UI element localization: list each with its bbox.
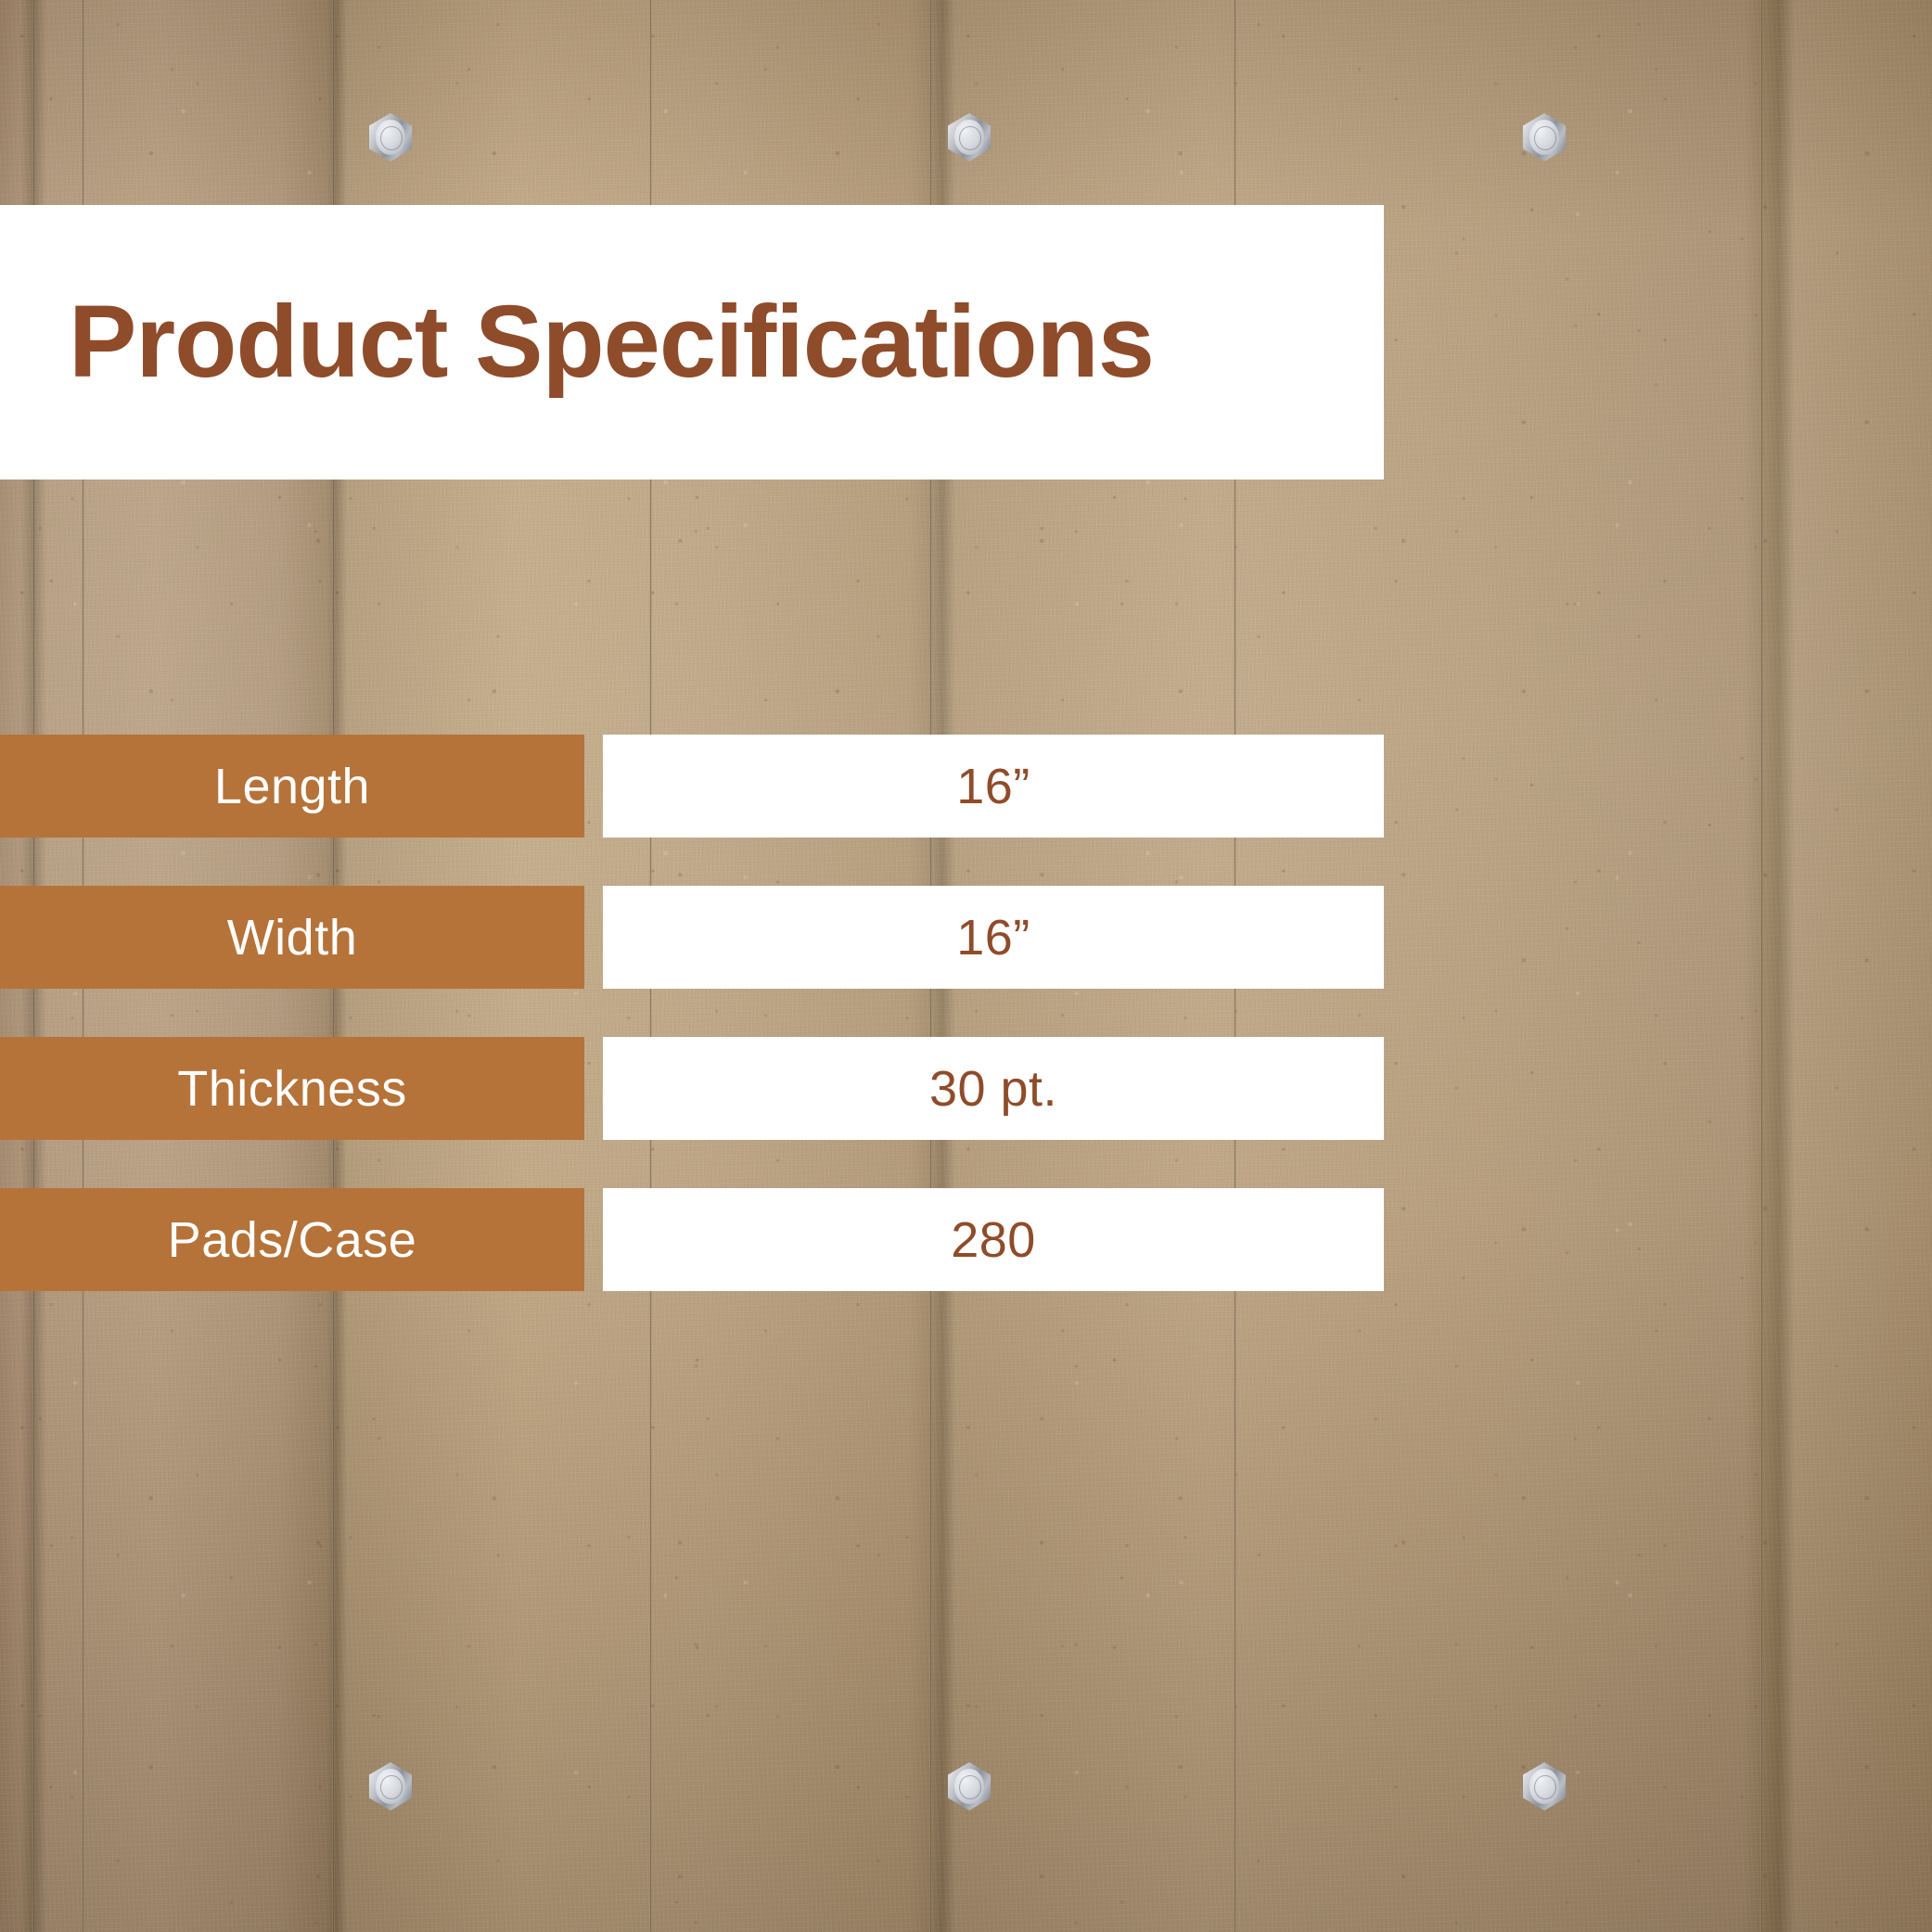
- spec-value-text: 16”: [956, 761, 1030, 812]
- spec-label-text: Thickness: [177, 1064, 407, 1114]
- table-row: Pads/Case 280: [0, 1188, 1384, 1291]
- hex-bolt-icon: [1523, 1762, 1566, 1810]
- hex-bolt-icon: [948, 113, 991, 161]
- hex-bolt-icon: [1523, 113, 1566, 161]
- spec-value-text: 16”: [956, 913, 1030, 963]
- spec-label-text: Width: [227, 913, 358, 963]
- table-row: Length 16”: [0, 735, 1384, 838]
- spec-label-text: Length: [214, 761, 370, 812]
- spec-value-cell: 280: [603, 1188, 1384, 1291]
- page-title: Product Specifications: [69, 291, 1154, 393]
- hex-bolt-icon: [369, 113, 412, 161]
- table-row: Thickness 30 pt.: [0, 1037, 1384, 1140]
- spec-value-text: 280: [951, 1215, 1036, 1265]
- panel-seam: [1760, 0, 1763, 1932]
- spec-value-cell: 30 pt.: [603, 1037, 1384, 1140]
- title-banner: Product Specifications: [0, 205, 1384, 480]
- table-row: Width 16”: [0, 886, 1384, 989]
- spec-label-cell: Thickness: [0, 1037, 584, 1140]
- spec-label-cell: Length: [0, 735, 584, 838]
- spec-label-cell: Width: [0, 886, 584, 989]
- spec-value-text: 30 pt.: [929, 1064, 1057, 1114]
- specifications-table: Length 16” Width 16” Thickness 30 pt.: [0, 735, 1384, 1291]
- hex-bolt-icon: [369, 1762, 412, 1810]
- product-spec-card: Product Specifications Length 16” Width …: [0, 0, 1932, 1932]
- hex-bolt-icon: [948, 1762, 991, 1810]
- spec-value-cell: 16”: [603, 735, 1384, 838]
- spec-label-cell: Pads/Case: [0, 1188, 584, 1291]
- spec-value-cell: 16”: [603, 886, 1384, 989]
- spec-label-text: Pads/Case: [168, 1215, 417, 1265]
